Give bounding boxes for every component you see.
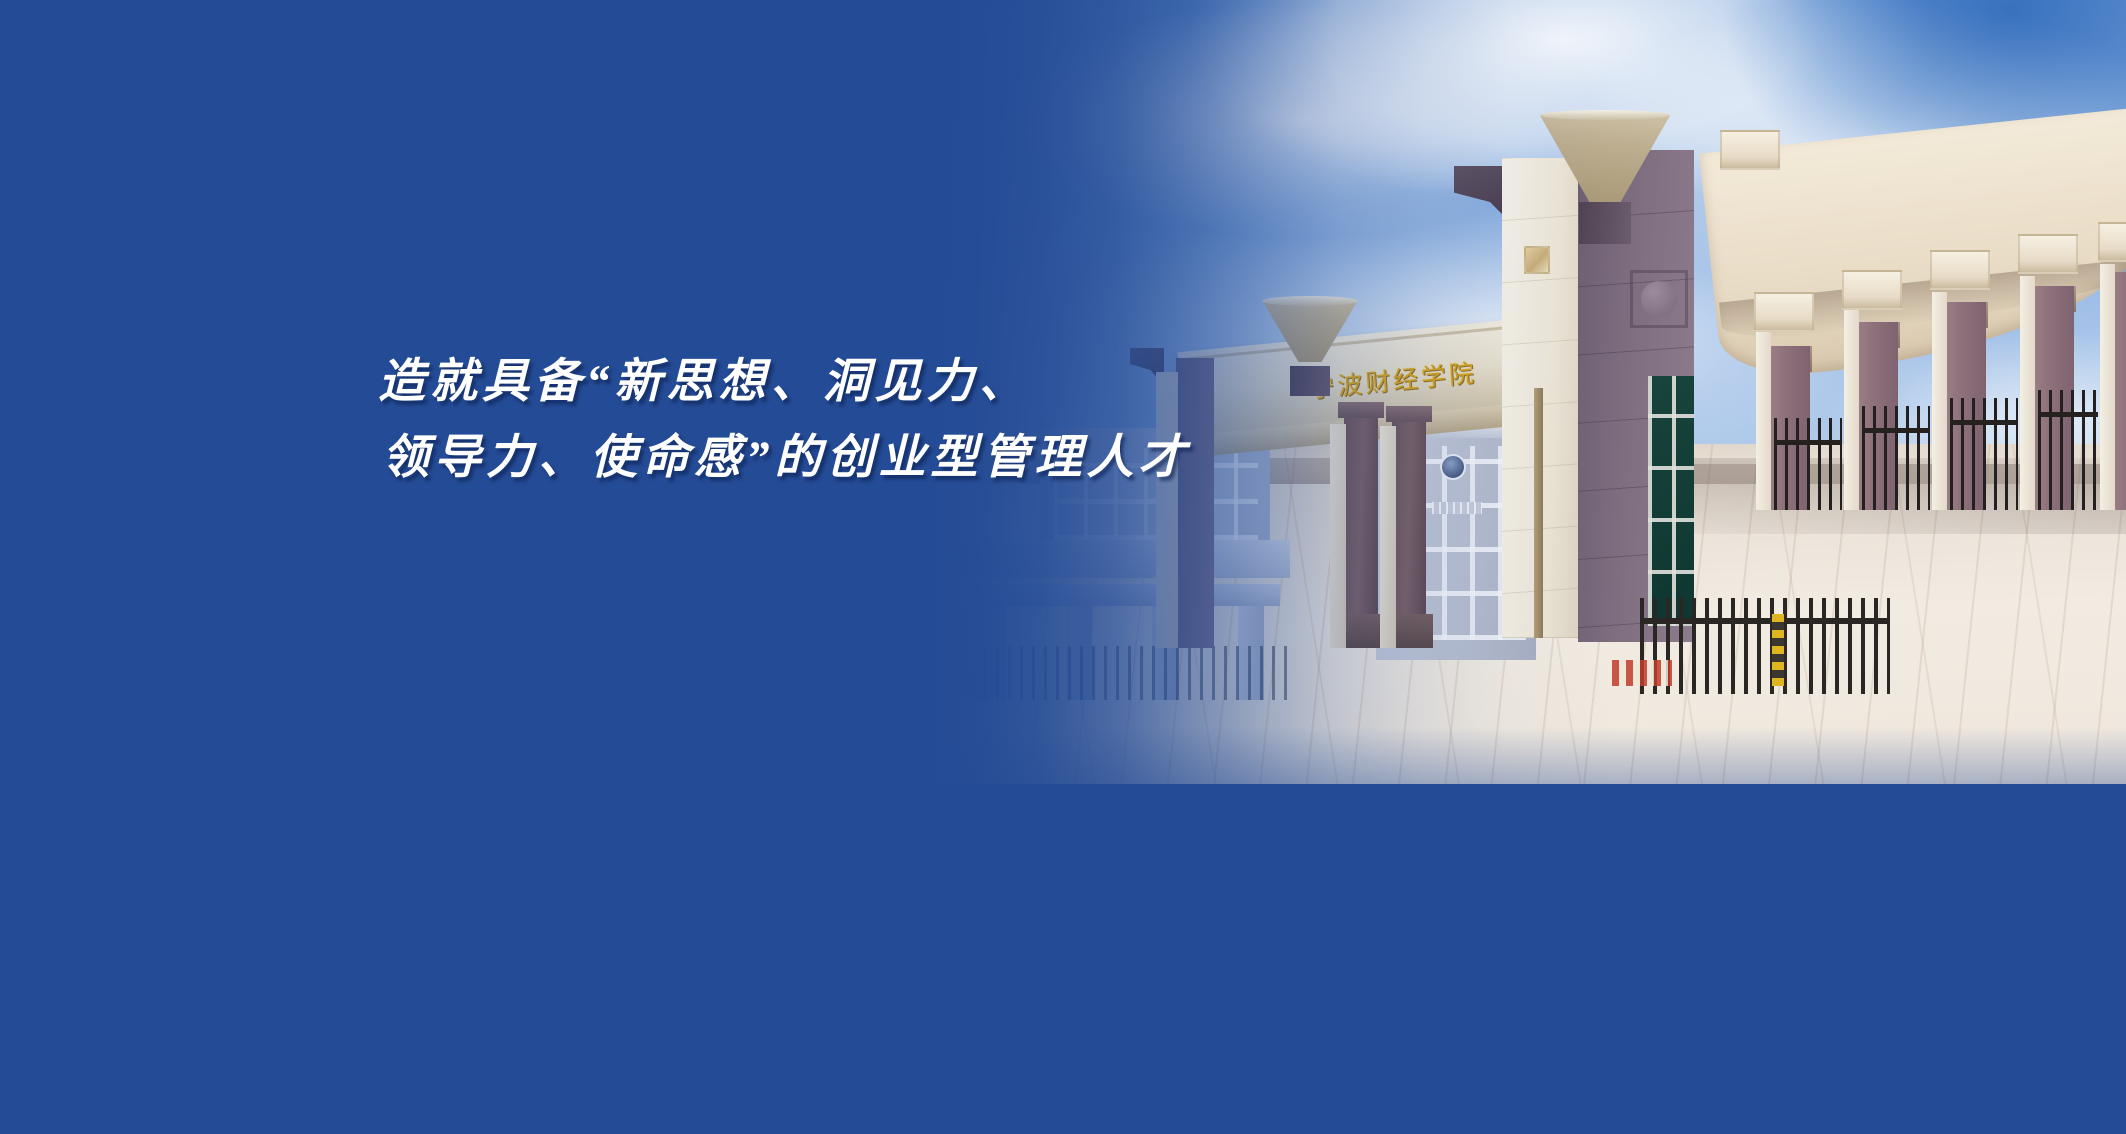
photo-bottom-fade-overlay: [0, 634, 2126, 784]
headline-line-1: 造就具备“新思想、洞见力、: [378, 344, 1191, 420]
university-banner: 宁波财经学院: [0, 0, 2126, 1134]
headline-line-2: 领导力、使命感”的创业型管理人才: [382, 420, 1191, 496]
blue-bottom-band: [0, 784, 2126, 1134]
banner-headline: 造就具备“新思想、洞见力、 领导力、使命感”的创业型管理人才: [378, 344, 1191, 496]
